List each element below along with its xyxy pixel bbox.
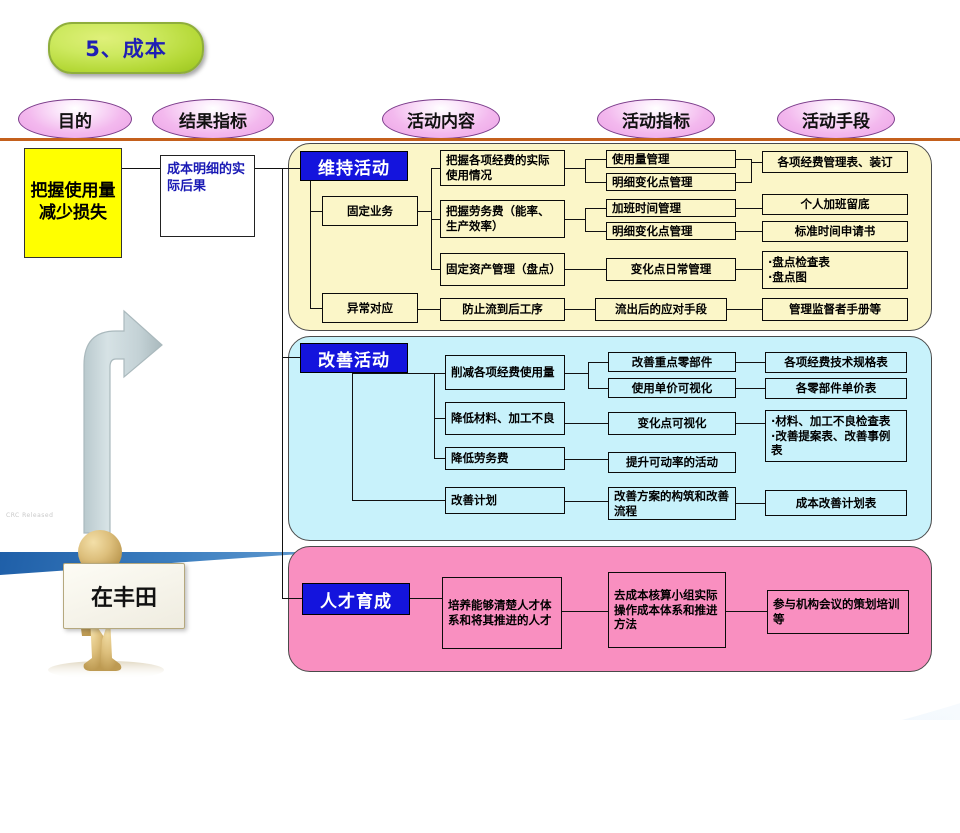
connector-a3-b5 bbox=[565, 269, 606, 270]
node-label: 改善重点零部件 bbox=[632, 355, 713, 370]
section-label-text: 改善活动 bbox=[318, 346, 390, 371]
connector-trunk-to-branch bbox=[352, 373, 435, 374]
node-label: 提升可动率的活动 bbox=[626, 455, 718, 470]
slide-title-label: 5、成本 bbox=[85, 33, 167, 63]
node-label: 去成本核算小组实际操作成本体系和推进方法 bbox=[614, 588, 720, 632]
column-header-activity-means: 活动手段 bbox=[777, 99, 895, 139]
node-label: ·材料、加工不良检查表 ·改善提案表、改善事例表 bbox=[771, 414, 901, 458]
connector-branch-b-a2 bbox=[434, 418, 445, 419]
node-label: 明细变化点管理 bbox=[612, 175, 693, 190]
node-org-meeting-training: 参与机构会议的策划培训等 bbox=[767, 590, 909, 634]
node-usage-mgmt: 使用量管理 bbox=[606, 150, 736, 168]
column-header-activity-content: 活动内容 bbox=[382, 99, 500, 139]
connector-b-a2-b3 bbox=[565, 423, 608, 424]
node-cost-accounting-group: 去成本核算小组实际操作成本体系和推进方法 bbox=[608, 572, 726, 648]
column-header-result-index: 结果指标 bbox=[152, 99, 274, 139]
connector-branch-a2 bbox=[431, 219, 440, 220]
purpose-box: 把握使用量减少损失 bbox=[24, 148, 122, 258]
connector-b-b3-c3 bbox=[736, 423, 765, 424]
connector-abnormal-out bbox=[418, 309, 440, 310]
node-defect-checklist-proposals: ·材料、加工不良检查表 ·改善提案表、改善事例表 bbox=[765, 410, 907, 462]
connector-a1-out bbox=[565, 168, 585, 169]
watermark-text: CRC Released bbox=[6, 512, 53, 519]
connector-b5-c4 bbox=[736, 269, 762, 270]
node-detail-change-point-mgmt-1: 明细变化点管理 bbox=[606, 173, 736, 191]
connector-to-fixed-business bbox=[310, 211, 322, 212]
node-parts-unit-price-table: 各零部件单价表 bbox=[765, 378, 907, 399]
connector-b3-c2 bbox=[736, 208, 762, 209]
node-prevent-flow-downstream: 防止流到后工序 bbox=[440, 298, 565, 321]
connector-branch-a1 bbox=[431, 168, 440, 169]
section-label-talent: 人才育成 bbox=[302, 583, 410, 615]
node-standard-time-request: 标准时间申请书 bbox=[762, 221, 908, 242]
slide-canvas: 5、成本 目的 结果指标 活动内容 活动指标 活动手段 把握使用量减少损失 成本… bbox=[0, 0, 960, 720]
node-personal-overtime-record: 个人加班留底 bbox=[762, 194, 908, 215]
connector-improve-branch bbox=[434, 373, 435, 459]
result-index-box: 成本明细的实际后果 bbox=[160, 155, 255, 237]
connector-branch-b-a3 bbox=[434, 458, 445, 459]
node-label: ·盘点检查表 ·盘点图 bbox=[768, 255, 830, 284]
node-label: 明细变化点管理 bbox=[612, 224, 693, 239]
connector-b6-c5 bbox=[727, 309, 762, 310]
node-supervisor-manual: 管理监督者手册等 bbox=[762, 298, 908, 321]
node-reduce-labor-cost: 降低劳务费 bbox=[445, 447, 565, 470]
node-label: 固定业务 bbox=[347, 204, 393, 219]
connector-b-a4-b5 bbox=[565, 501, 608, 502]
connector-improve-trunk bbox=[352, 371, 353, 501]
connector-talent-a1-b1 bbox=[562, 611, 608, 612]
connector-branch-a3 bbox=[431, 269, 440, 270]
node-post-outflow-countermeasure: 流出后的应对手段 bbox=[595, 298, 727, 321]
connector-a2-b3 bbox=[585, 208, 606, 209]
column-header-label: 目的 bbox=[58, 107, 92, 132]
node-label: 固定资产管理（盘点） bbox=[446, 262, 559, 277]
section-label-text: 人才育成 bbox=[320, 587, 392, 612]
upward-arrow-graphic bbox=[62, 305, 172, 535]
connector-a1-b1 bbox=[585, 159, 606, 160]
header-divider-rule bbox=[0, 138, 960, 141]
node-fixed-asset-mgmt: 固定资产管理（盘点） bbox=[440, 253, 565, 286]
connector-b-b5-c4 bbox=[736, 503, 765, 504]
connector-trunk-to-plan bbox=[352, 500, 445, 501]
node-label: 改善计划 bbox=[451, 493, 497, 508]
node-cultivate-talent: 培养能够清楚人才体系和将其推进的人才 bbox=[442, 577, 562, 649]
node-label: 变化点日常管理 bbox=[631, 262, 712, 277]
connector-b-b2-c2 bbox=[736, 388, 765, 389]
node-change-point-daily-mgmt: 变化点日常管理 bbox=[606, 258, 736, 281]
node-improve-key-parts: 改善重点零部件 bbox=[608, 352, 736, 372]
connector-b-a1-out bbox=[565, 373, 589, 374]
connector-b-a1-split bbox=[588, 362, 589, 388]
node-label: 改善方案的构筑和改善流程 bbox=[614, 489, 730, 518]
connector-a2-out bbox=[565, 219, 585, 220]
column-header-activity-index: 活动指标 bbox=[597, 99, 715, 139]
node-label: 加班时间管理 bbox=[612, 201, 681, 216]
connector-b-a1-b1 bbox=[588, 362, 608, 363]
connector-to-abnormal bbox=[310, 308, 322, 309]
slide-title-pill: 5、成本 bbox=[48, 22, 204, 74]
connector-talent-label-to-a1 bbox=[408, 598, 442, 599]
section-label-improve: 改善活动 bbox=[300, 343, 408, 373]
connector-a4-b6 bbox=[565, 309, 595, 310]
connector-maintain-trunk bbox=[310, 179, 311, 309]
node-inventory-checklist: ·盘点检查表 ·盘点图 bbox=[762, 251, 908, 289]
connector-b4-c3 bbox=[736, 231, 762, 232]
connector-left-spine bbox=[282, 168, 283, 598]
connector-b2-out bbox=[736, 182, 752, 183]
node-label: 削减各项经费使用量 bbox=[451, 365, 555, 380]
node-label: 使用单价可视化 bbox=[632, 381, 713, 396]
connector-result-spine bbox=[255, 168, 283, 169]
mascot-sign-label: 在丰田 bbox=[91, 580, 157, 612]
node-label: 培养能够清楚人才体系和将其推进的人才 bbox=[448, 598, 556, 627]
column-header-label: 活动指标 bbox=[622, 107, 690, 132]
column-header-purpose: 目的 bbox=[18, 99, 132, 139]
node-label: 使用量管理 bbox=[612, 152, 670, 167]
node-improvement-plan: 改善计划 bbox=[445, 487, 565, 514]
section-label-text: 维持活动 bbox=[318, 154, 390, 179]
node-label: 管理监督者手册等 bbox=[789, 302, 881, 317]
connector-merge-to-c1 bbox=[751, 162, 762, 163]
node-cost-improvement-plan-table: 成本改善计划表 bbox=[765, 490, 907, 516]
connector-a2-branch bbox=[585, 208, 586, 231]
node-fixed-business: 固定业务 bbox=[322, 196, 418, 226]
node-label: 把握各项经费的实际使用情况 bbox=[446, 153, 559, 182]
connector-purpose-result bbox=[122, 168, 160, 169]
connector-b-a3-b4 bbox=[565, 459, 608, 460]
connector-b1-out bbox=[736, 159, 752, 160]
result-index-label: 成本明细的实际后果 bbox=[167, 162, 245, 194]
node-label: 把握劳务费（能率、生产效率） bbox=[446, 204, 559, 233]
column-header-label: 活动内容 bbox=[407, 107, 475, 132]
purpose-label: 把握使用量减少损失 bbox=[29, 181, 117, 225]
node-expense-mgmt-table: 各项经费管理表、装订 bbox=[762, 151, 908, 173]
node-label: 参与机构会议的策划培训等 bbox=[773, 597, 903, 626]
node-label: 各项经费管理表、装订 bbox=[778, 155, 893, 170]
node-improve-availability: 提升可动率的活动 bbox=[608, 452, 736, 473]
connector-a2-b4 bbox=[585, 231, 606, 232]
node-label: 成本改善计划表 bbox=[796, 496, 877, 511]
connector-a1-branch bbox=[585, 159, 586, 182]
node-change-point-visualization: 变化点可视化 bbox=[608, 412, 736, 435]
node-label: 个人加班留底 bbox=[801, 197, 870, 212]
node-label: 降低劳务费 bbox=[451, 451, 509, 466]
connector-fixed-business-out bbox=[418, 211, 432, 212]
node-grasp-labor-cost: 把握劳务费（能率、生产效率） bbox=[440, 200, 565, 238]
connector-b-b1-c1 bbox=[736, 362, 765, 363]
node-label: 变化点可视化 bbox=[638, 416, 707, 431]
section-label-maintain: 维持活动 bbox=[300, 151, 408, 181]
connector-a1-b2 bbox=[585, 182, 606, 183]
node-reduce-expense-usage: 削减各项经费使用量 bbox=[445, 355, 565, 390]
node-label: 各零部件单价表 bbox=[796, 381, 877, 396]
node-overtime-mgmt: 加班时间管理 bbox=[606, 199, 736, 217]
connector-branch-b-a1 bbox=[434, 373, 445, 374]
node-label: 标准时间申请书 bbox=[795, 224, 876, 239]
node-reduce-material-defect: 降低材料、加工不良 bbox=[445, 402, 565, 435]
node-improvement-scheme-flow: 改善方案的构筑和改善流程 bbox=[608, 487, 736, 520]
node-detail-change-point-mgmt-2: 明细变化点管理 bbox=[606, 222, 736, 240]
connector-spine-to-talent bbox=[282, 598, 304, 599]
connector-talent-b1-c1 bbox=[726, 611, 767, 612]
node-grasp-expense-usage: 把握各项经费的实际使用情况 bbox=[440, 150, 565, 186]
node-label: 防止流到后工序 bbox=[462, 302, 543, 317]
node-expense-tech-spec-table: 各项经费技术规格表 bbox=[765, 352, 907, 373]
node-label: 异常对应 bbox=[347, 301, 393, 316]
column-header-label: 结果指标 bbox=[179, 107, 247, 132]
node-label: 流出后的应对手段 bbox=[615, 302, 707, 317]
connector-b-a1-b2 bbox=[588, 388, 608, 389]
mascot-sign-board: 在丰田 bbox=[63, 563, 185, 629]
column-header-label: 活动手段 bbox=[802, 107, 870, 132]
node-unit-price-visualization: 使用单价可视化 bbox=[608, 378, 736, 398]
node-label: 降低材料、加工不良 bbox=[451, 411, 555, 426]
node-abnormal-response: 异常对应 bbox=[322, 293, 418, 323]
node-label: 各项经费技术规格表 bbox=[784, 355, 888, 370]
